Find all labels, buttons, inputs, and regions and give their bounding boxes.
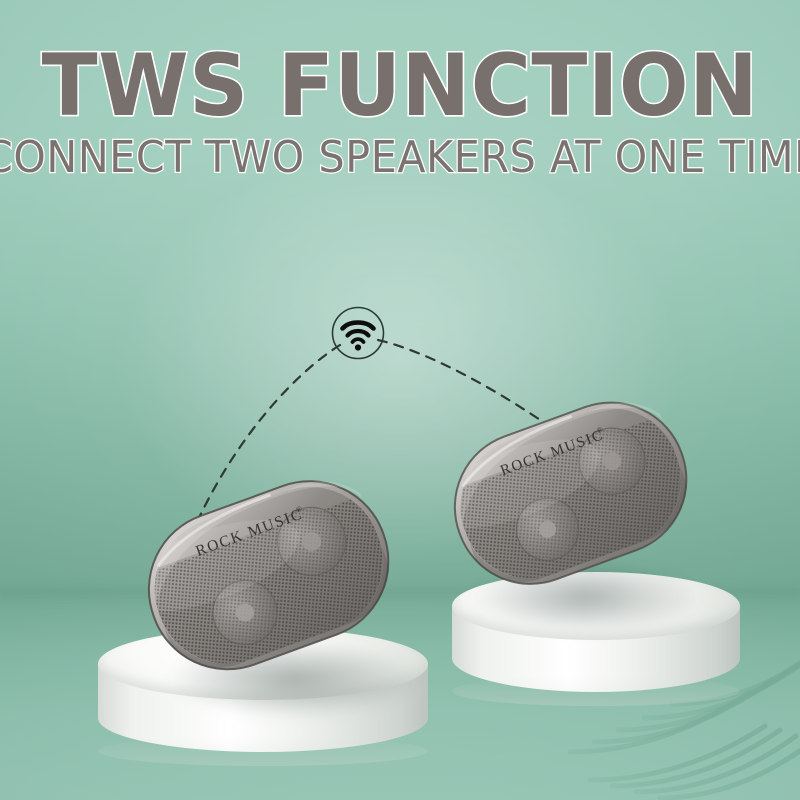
right-speaker[interactable]: ROCK MUSIC ®	[452, 385, 692, 610]
right-speaker-graphic: ROCK MUSIC ®	[452, 385, 692, 610]
page-subtitle: CONNECT TWO SPEAKERS AT ONE TIME	[0, 136, 800, 180]
left-speaker[interactable]: ROCK MUSIC ®	[146, 462, 394, 697]
wifi-icon	[330, 305, 386, 361]
page-title: TWS FUNCTION	[0, 44, 800, 128]
podium-right-rim	[452, 676, 740, 706]
headline-block: TWS FUNCTION CONNECT TWO SPEAKERS AT ONE…	[0, 44, 800, 180]
wifi-badge[interactable]	[330, 305, 386, 361]
product-banner: TWS FUNCTION CONNECT TWO SPEAKERS AT ONE…	[0, 0, 800, 800]
left-speaker-graphic: ROCK MUSIC ®	[146, 462, 394, 697]
podium-left-rim	[98, 736, 428, 766]
